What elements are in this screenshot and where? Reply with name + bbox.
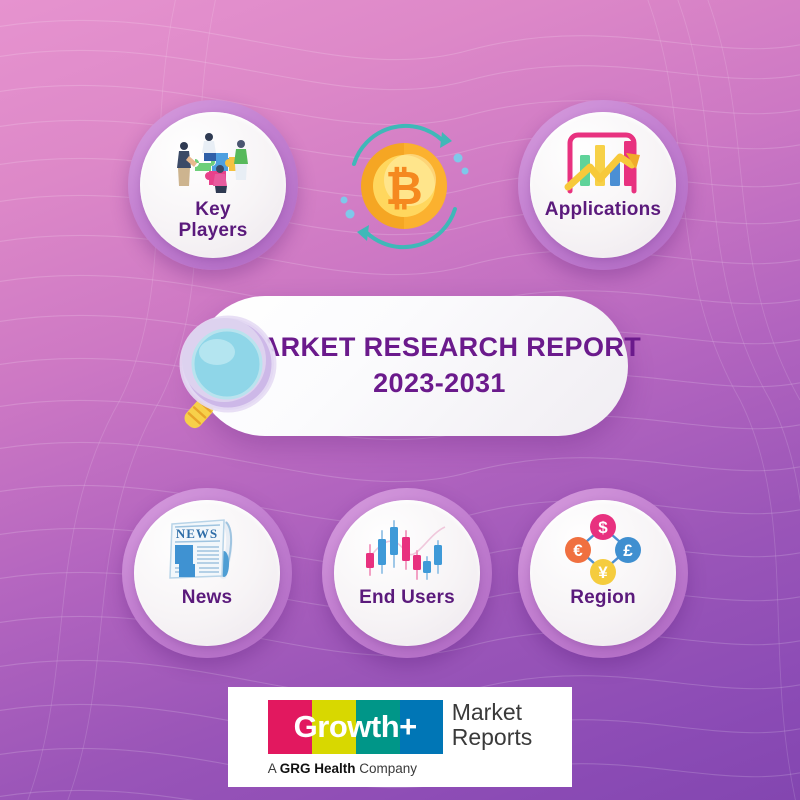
svg-text:NEWS: NEWS <box>176 526 218 541</box>
badge-key-players-label-line1: Key <box>178 200 247 221</box>
magnifying-glass-icon <box>172 310 297 450</box>
newspaper-icon: NEWS <box>166 516 248 582</box>
badge-applications[interactable]: Applications <box>518 100 688 270</box>
logo-row: Growth+ Market Reports <box>268 700 533 754</box>
badge-end-users-label: End Users <box>359 588 455 609</box>
badge-news-label: News <box>182 588 232 609</box>
badge-applications-inner: Applications <box>530 112 676 258</box>
badge-key-players-label-line2: Players <box>178 221 247 242</box>
badge-end-users[interactable]: End Users <box>322 488 492 658</box>
report-years: 2023-2031 <box>373 367 506 401</box>
logo-tagline-prefix: A <box>268 761 280 776</box>
growth-plus-mark: Growth+ <box>268 700 443 754</box>
page-title: MARKET RESEARCH REPORT <box>238 331 641 365</box>
badge-key-players-label: Key Players <box>178 200 247 241</box>
company-logo: Growth+ Market Reports A GRG Health Comp… <box>228 687 572 787</box>
poster-canvas: Key Players ₿ <box>0 0 800 800</box>
logo-line-reports: Reports <box>452 725 533 750</box>
badge-region[interactable]: $ € £ ¥ Region <box>518 488 688 658</box>
badge-end-users-inner: End Users <box>334 500 480 646</box>
badge-applications-label: Applications <box>545 200 661 221</box>
logo-tagline-bold: GRG Health <box>280 761 356 776</box>
candlestick-chart-icon <box>361 516 453 582</box>
logo-text: Market Reports <box>452 700 533 750</box>
badge-region-label: Region <box>570 588 636 609</box>
svg-text:£: £ <box>623 541 633 560</box>
currency-exchange-icon: $ € £ ¥ <box>564 516 642 582</box>
svg-text:$: $ <box>598 518 608 537</box>
badge-region-inner: $ € £ ¥ Region <box>530 500 676 646</box>
logo-wordmark: Growth+ <box>268 700 443 754</box>
bitcoin-symbol: ₿ <box>385 162 423 214</box>
logo-wrap: Growth+ Market Reports A GRG Health Comp… <box>262 692 539 782</box>
badge-key-players-inner: Key Players <box>140 112 286 258</box>
people-puzzle-icon <box>165 128 261 194</box>
svg-text:€: € <box>573 541 583 560</box>
svg-text:¥: ¥ <box>598 563 608 582</box>
logo-line-market: Market <box>452 700 533 725</box>
badge-key-players[interactable]: Key Players <box>128 100 298 270</box>
badge-news-inner: NEWS <box>134 500 280 646</box>
logo-tagline: A GRG Health Company <box>268 761 533 776</box>
badge-news[interactable]: NEWS <box>122 488 292 658</box>
logo-tagline-suffix: Company <box>356 761 418 776</box>
bar-chart-growth-icon <box>560 128 646 194</box>
bitcoin-coin-icon: ₿ <box>332 114 477 259</box>
